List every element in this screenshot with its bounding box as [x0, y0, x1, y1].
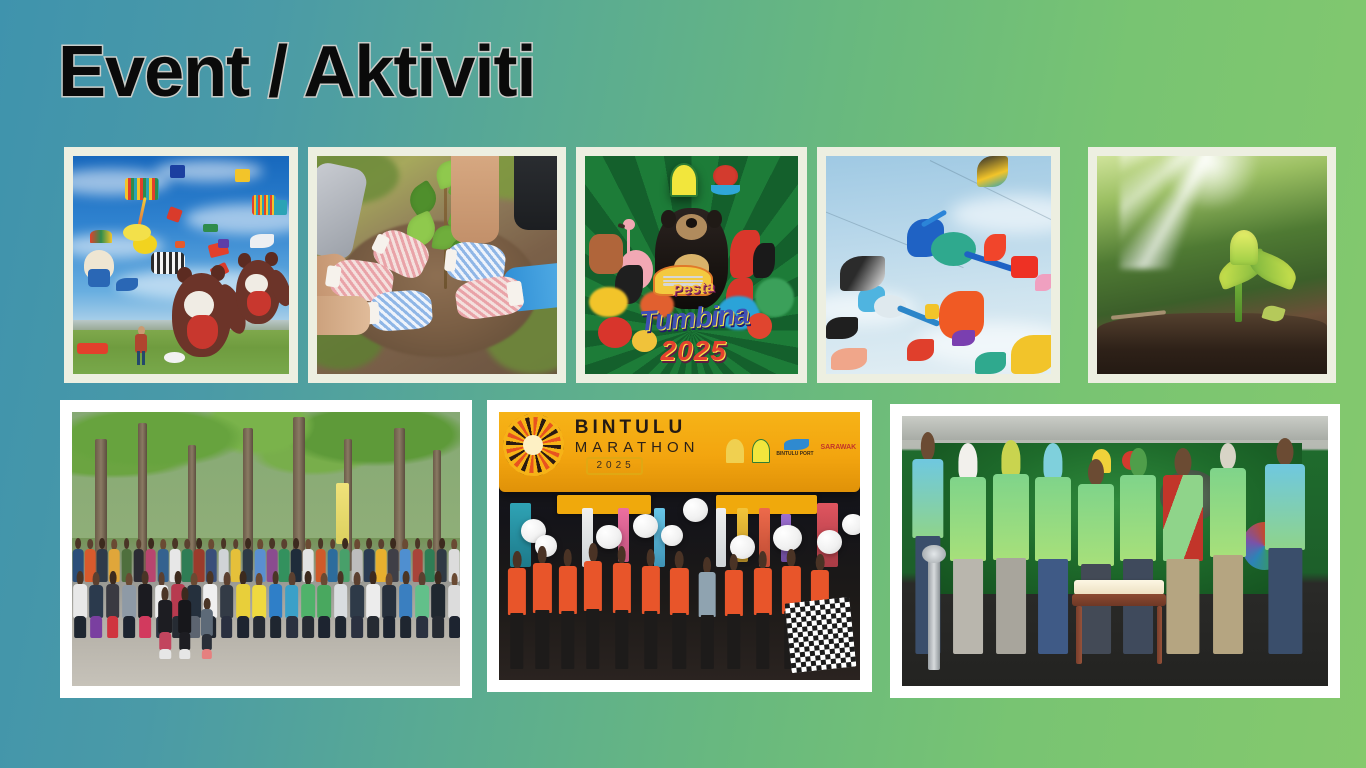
sponsor-bintulu-port: BINTULU PORT [773, 451, 816, 457]
photo-bintulu-marathon-2025: BINTULU MARATHON 2025 BINTULU PORT SARAW… [499, 412, 860, 680]
poster-year: 2025 [636, 335, 751, 367]
photo-kite-festival-dragons [826, 156, 1051, 374]
photo-cake-cutting-ceremony [902, 416, 1328, 686]
marathon-title-line2: MARATHON [575, 439, 700, 456]
gallery-item-cake-cutting-ceremony[interactable] [890, 404, 1340, 698]
gallery-item-pesta-tumbina-poster[interactable]: Pesta Tumbina 2025 [576, 147, 807, 383]
page-title: Event / Aktiviti [58, 36, 535, 108]
marathon-title-line1: BINTULU [575, 417, 686, 439]
ceremony-table [1072, 578, 1166, 664]
marathon-arch-banner: BINTULU MARATHON 2025 BINTULU PORT SARAW… [499, 412, 860, 492]
gallery-item-tree-planting-hands[interactable] [308, 147, 566, 383]
marathon-year: 2025 [596, 460, 634, 471]
globe-emblem-logo [713, 165, 739, 187]
sponsor-sarawak: SARAWAK [817, 444, 860, 451]
gallery-item-seedling-sunlight[interactable] [1088, 147, 1336, 383]
photo-community-run-group-photo [72, 412, 460, 686]
gallery-item-kite-festival-dragons[interactable] [817, 147, 1060, 383]
checkered-flag [784, 596, 856, 672]
photo-seedling-sunlight [1097, 156, 1327, 374]
ceremony-cake [1074, 580, 1164, 596]
arch-emblem-logo [670, 163, 698, 198]
council-crest-icon [752, 439, 770, 463]
sunburst-logo-icon [503, 414, 564, 477]
photo-pesta-tumbina-poster: Pesta Tumbina 2025 [585, 156, 798, 374]
stanchion-post [928, 556, 941, 669]
photo-tree-planting-hands [317, 156, 557, 374]
state-crest-icon [726, 439, 744, 463]
photo-kite-festival-chipmunk [73, 156, 289, 374]
bintulu-port-logo-icon [784, 439, 809, 449]
gallery-item-bintulu-marathon-2025[interactable]: BINTULU MARATHON 2025 BINTULU PORT SARAW… [487, 400, 872, 692]
gallery-item-community-run-group-photo[interactable] [60, 400, 472, 698]
gallery-item-kite-festival-chipmunk[interactable] [64, 147, 298, 383]
